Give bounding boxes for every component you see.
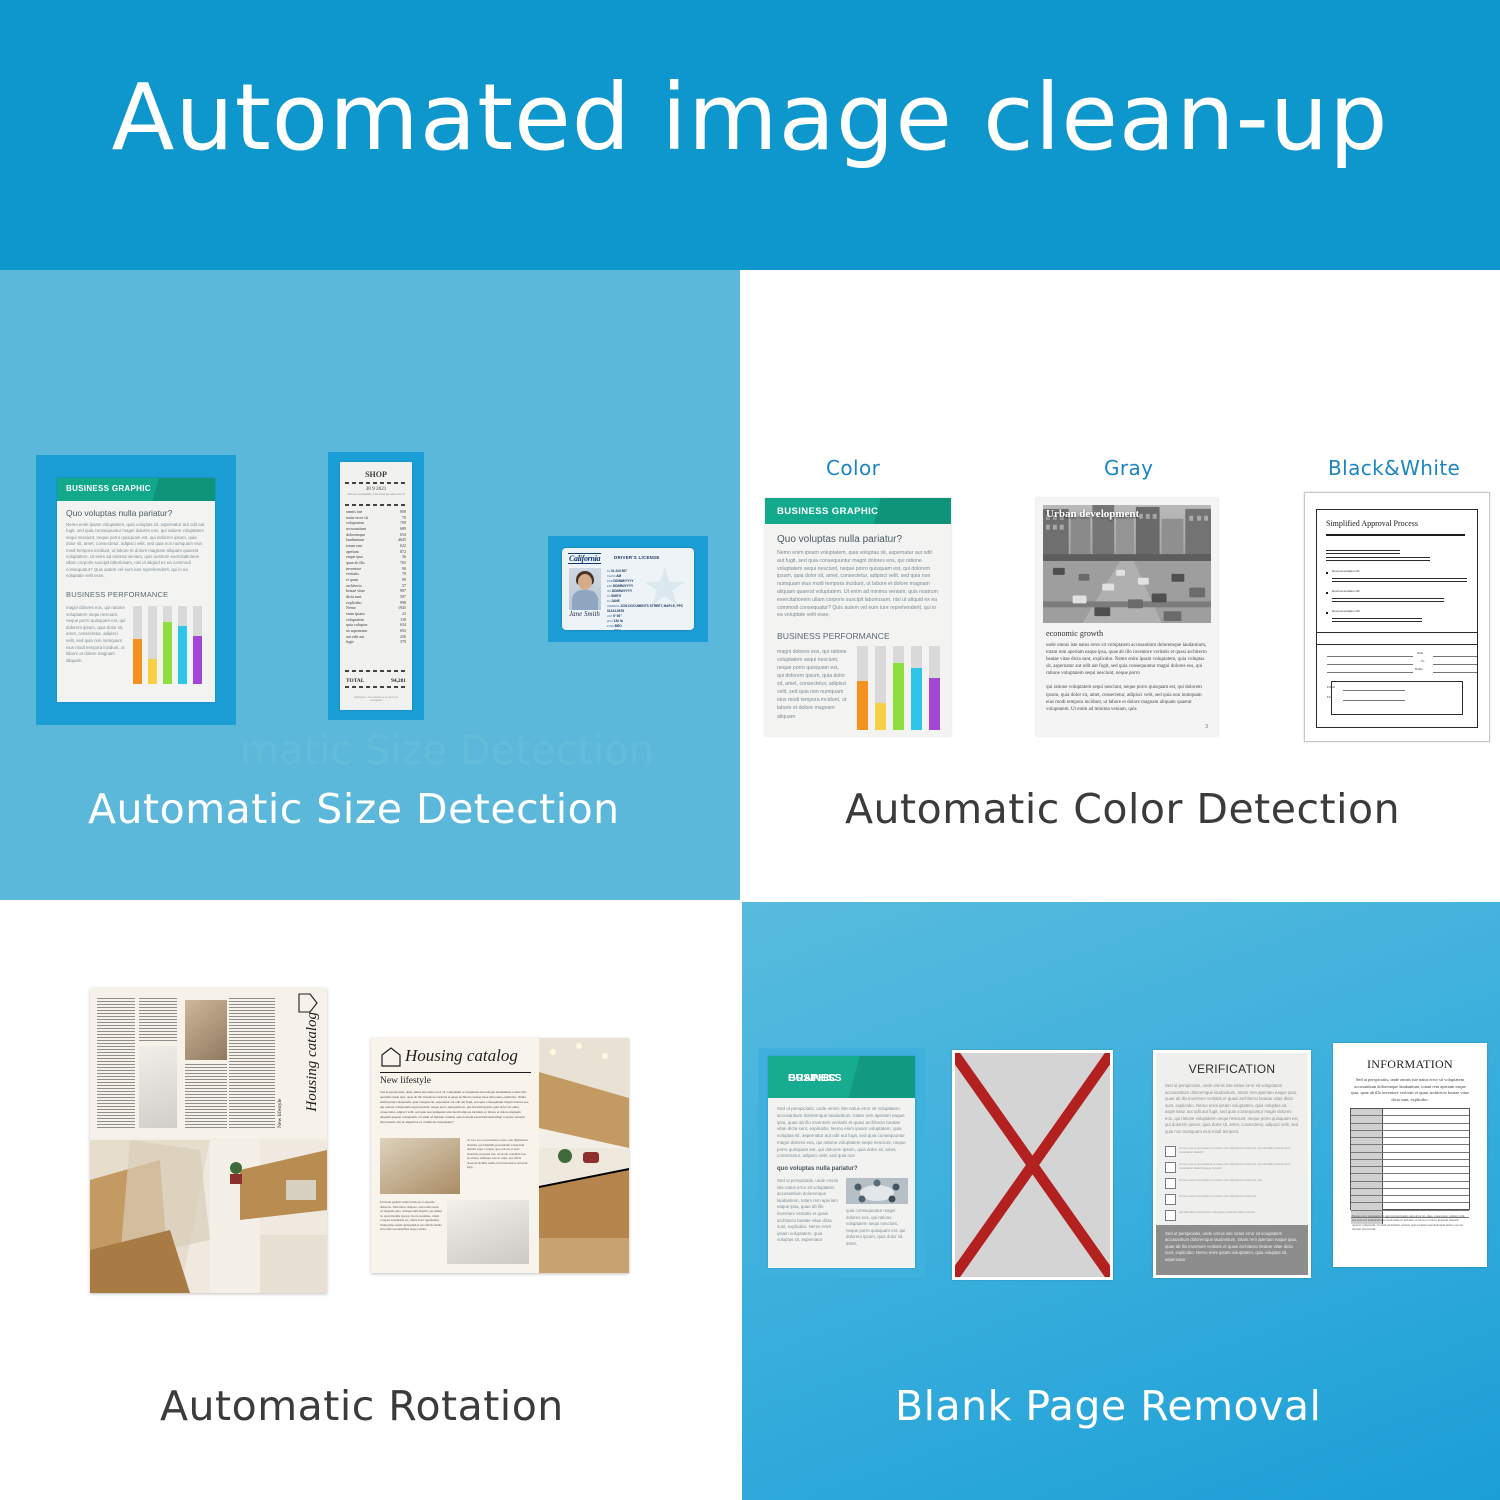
checkbox[interactable] [1165, 1162, 1176, 1173]
doc-header-band: BUSINESS GRAPHIC [765, 498, 951, 524]
gray-doc-body: unde omnis iste natus error sit voluptat… [1046, 642, 1208, 720]
doc-header-label: BUSINESS GRAPHIC [66, 484, 151, 493]
license-field-value: AM [616, 574, 621, 578]
doc-header-label: BUSINESS GRAPHIC [777, 506, 878, 517]
license-field-key: HGT [607, 615, 612, 618]
verification-check-row[interactable]: At vero eos et accusamus et iusto odio d… [1165, 1145, 1299, 1161]
receipt-divider-2 [345, 504, 407, 506]
doc-magazine-rotated[interactable]: Housing catalog New lifestyle [90, 988, 327, 1293]
license-field-key: CLASS [607, 575, 616, 578]
table-label-cell [1351, 1145, 1383, 1151]
bullet-icon [1326, 612, 1328, 614]
verification-check-row[interactable]: At vero eos et accusamus et iusto odio d… [1165, 1193, 1299, 1209]
information-body: Sed ut perspiciatis, unde omnis iste nat… [1350, 1077, 1470, 1103]
table-label-cell [1351, 1174, 1383, 1180]
doc-column-2: quia consequuntur magni dolores eos, qui… [846, 1208, 908, 1248]
bar-fill [148, 659, 157, 684]
bar-4 [911, 646, 922, 730]
license-field-key: EYES [607, 625, 614, 628]
table-label-cell [1351, 1131, 1383, 1137]
receipt-total-row: TOTAL 94,281 [346, 678, 406, 684]
doc-body-text: Nemo enim ipsam voluptatem, quia volupta… [66, 522, 206, 579]
interior-photo-rotated-1 [185, 1000, 227, 1060]
bar-fill [875, 703, 886, 730]
gray-doc-paragraph-2: qui ratione voluptatem sequi nesciunt, n… [1046, 684, 1208, 712]
bar-fill [178, 626, 187, 684]
doc-subheading: BUSINESS PERFORMANCE [777, 631, 890, 641]
doc-heading: Quo voluptas nulla pariatur? [777, 534, 902, 545]
bw-doc-title: Simplified Approval Process [1326, 519, 1418, 528]
receipt-divider-1 [345, 482, 407, 484]
doc-subheading: BUSINESS PERFORMANCE [66, 590, 168, 599]
bar-1 [857, 646, 868, 730]
table-row [1351, 1203, 1469, 1210]
city-street-illustration [1043, 505, 1211, 623]
label-automatic-size-detection: Automatic Size Detection [88, 785, 620, 833]
bar-fill [133, 639, 142, 684]
magazine-masthead-rotated: Housing catalog [287, 998, 321, 1138]
table-row [1351, 1109, 1469, 1116]
bw-field-label-date: Date [1417, 651, 1423, 655]
receipt-footer-note: laboriosam, nisi ut aliquid ex ea commod… [348, 696, 404, 702]
checkbox[interactable] [1165, 1146, 1176, 1157]
bar-3 [163, 606, 172, 684]
table-label-cell [1351, 1203, 1383, 1209]
gray-doc-heading: economic growth [1046, 629, 1103, 638]
license-portrait-photo [569, 568, 601, 610]
table-label-cell [1351, 1189, 1383, 1195]
license-field-value: JANE [611, 599, 620, 603]
doc-header-band: BUSINESS GRAPHIC [57, 478, 215, 501]
bathroom-photo [447, 1200, 529, 1264]
receipt-date: 30 9 2021 [340, 486, 412, 492]
doc-verification[interactable]: VERIFICATION Sed ut perspiciatis, unde o… [1153, 1050, 1311, 1278]
verification-footer-text: Sed ut perspiciatis, unde omnis iste nat… [1165, 1231, 1299, 1263]
bar-fill [911, 668, 922, 730]
doc-body-text: Sed ut perspiciatis, unde omnis iste nat… [777, 1106, 906, 1160]
gray-doc-page-number: 3 [1205, 724, 1208, 730]
bar-2 [148, 606, 157, 684]
bullet-icon [1326, 572, 1328, 574]
table-label-cell [1351, 1182, 1383, 1188]
license-field-list: DL 01 234 567CLASS AMDOB DD/MM/YYYYEXP D… [607, 569, 689, 630]
table-row [1351, 1153, 1469, 1160]
magazine-body-lines [229, 998, 275, 1130]
verification-check-label: At vero eos et accusamus et iusto odio d… [1179, 1178, 1299, 1182]
magazine-subheading-rotated: New lifestyle [277, 1000, 283, 1128]
bw-separator-band [1316, 632, 1478, 645]
poster-root: Automated image clean-up BUSINESS GRAPHI… [0, 0, 1500, 1500]
doc-black-and-white-version[interactable]: Simplified Approval Process Recommendati… [1304, 492, 1490, 742]
bw-recommendation: Recommendation #1 [1332, 569, 1360, 573]
receipt-total-value: 94,281 [391, 678, 406, 684]
verification-check-label: qui blanditiis praesentium voluptatum de… [1179, 1210, 1299, 1214]
table-label-cell [1351, 1116, 1383, 1122]
house-icon [297, 992, 319, 1014]
verification-check-label: At vero eos et accusamus et iusto odio d… [1179, 1146, 1299, 1154]
table-row [1351, 1174, 1469, 1181]
license-field-value: 01 234 567 [611, 569, 627, 573]
receipt-item: fugit379 [346, 639, 406, 645]
magazine-heading: New lifestyle [380, 1076, 431, 1086]
bathroom-photo-rotated [139, 1046, 177, 1128]
license-field-key: FN [607, 600, 610, 603]
table-row [1351, 1116, 1469, 1123]
living-room-photo [380, 1138, 460, 1194]
verification-check-row[interactable]: qui blanditiis praesentium voluptatum de… [1165, 1209, 1299, 1225]
doc-heading: Quo voluptas nulla pariatur? [66, 508, 172, 518]
caption-black-and-white: Black&White [1328, 456, 1460, 480]
checkbox[interactable] [1165, 1210, 1176, 1221]
caption-color: Color [826, 456, 880, 480]
table-row [1351, 1182, 1469, 1189]
license-field-value: DD/MM/YYYY [613, 579, 633, 583]
doc-blank-page[interactable] [952, 1050, 1113, 1280]
bw-field-label-to: To [1421, 659, 1424, 663]
table-label-cell [1351, 1196, 1383, 1202]
bar-5 [929, 646, 940, 730]
label-automatic-color-detection: Automatic Color Detection [845, 785, 1400, 833]
doc-business-graphic-small[interactable]: BUSINESS GRAPHIC Quo voluptas nulla pari… [57, 478, 215, 702]
license-field-key: DL [607, 570, 610, 573]
bar-2 [875, 646, 886, 730]
table-row [1351, 1189, 1469, 1196]
checkbox[interactable] [1165, 1194, 1176, 1205]
magazine-column-a: At vero eos et accusamus et iusto odio d… [467, 1138, 529, 1170]
interior-photo-main [539, 1038, 629, 1273]
meeting-photo [846, 1178, 908, 1204]
cross-out-icon [955, 1053, 1110, 1277]
verification-check-label: At vero eos et accusamus et iusto odio d… [1179, 1162, 1299, 1170]
doc-header-band: BUSINESSGRAPHIC [768, 1056, 915, 1098]
gray-doc-paragraph-1: unde omnis iste natus error sit voluptat… [1046, 642, 1208, 677]
license-field-key: DOB [607, 580, 613, 583]
bar-fill [929, 678, 940, 730]
size-detection-ghost-label: matic Size Detection [240, 728, 654, 774]
receipt-item-name: fugit [346, 639, 354, 645]
table-row [1351, 1145, 1469, 1152]
information-footer: Neque porro quisquam est, qui dolorem ip… [1352, 1214, 1468, 1231]
bw-recommendation: Recommendation #2 [1332, 589, 1360, 593]
label-blank-page-removal: Blank Page Removal [895, 1382, 1321, 1430]
verification-body: Sed ut perspiciatis, unde omnis iste nat… [1165, 1083, 1299, 1135]
information-table [1350, 1108, 1470, 1210]
doc-magazine-corrected[interactable]: Housing catalog New lifestyle Sed ut per… [371, 1038, 629, 1273]
license-field-value: BRN [614, 629, 621, 630]
table-row [1351, 1124, 1469, 1131]
bar-4 [178, 606, 187, 684]
table-label-cell [1351, 1109, 1383, 1115]
license-field-value: DD/MM/YYYY [612, 589, 632, 593]
caption-gray: Gray [1104, 456, 1153, 480]
interior-photo-rotated-main [90, 1140, 327, 1293]
checkbox[interactable] [1165, 1178, 1176, 1189]
doc-body-text: Nemo enim ipsam voluptatem, quia volupta… [777, 550, 939, 620]
bar-3 [893, 646, 904, 730]
header-banner: Automated image clean-up [0, 0, 1500, 270]
doc-side-column: magni dolores eos, qui ratione voluptate… [66, 605, 126, 664]
bar-fill [163, 622, 172, 684]
license-field-value: SMITH [611, 594, 621, 598]
bar-5 [193, 606, 202, 684]
license-field-value: 130 lb [614, 619, 623, 623]
magazine-body: Sed ut perspiciatis, unde omnis iste nat… [380, 1090, 531, 1125]
verification-footer-band: Sed ut perspiciatis, unde omnis iste nat… [1156, 1225, 1308, 1275]
bar-1 [133, 606, 142, 684]
license-field-key: EXP [607, 585, 612, 588]
table-label-cell [1351, 1167, 1383, 1173]
magazine-column-b: Et harum quidem rerum facilis est et exp… [380, 1200, 442, 1232]
table-label-cell [1351, 1160, 1383, 1166]
receipt-item-value: 379 [400, 639, 406, 645]
gray-doc-title: Urban development [1046, 508, 1139, 520]
page-title: Automated image clean-up [0, 72, 1500, 164]
table-row [1351, 1138, 1469, 1145]
receipt-divider-3 [345, 670, 407, 672]
bar-fill [193, 636, 202, 684]
magazine-body-lines [97, 998, 135, 1128]
bar-chart-small [133, 606, 205, 684]
magazine-body-lines [139, 998, 177, 1042]
verification-check-label: At vero eos et accusamus et iusto odio d… [1179, 1194, 1299, 1198]
license-field-key: WGT [607, 620, 613, 623]
magazine-body-lines [185, 1064, 227, 1128]
bar-fill [857, 681, 868, 730]
license-field-key: ADDRESS [607, 605, 620, 608]
bullet-icon [1326, 592, 1328, 594]
license-field-value: DD/MM/YYYY [613, 584, 633, 588]
verification-check-row[interactable]: At vero eos et accusamus et iusto odio d… [1165, 1161, 1299, 1177]
table-row [1351, 1131, 1469, 1138]
doc-subheading: quo voluptas nulla pariatur? [777, 1166, 858, 1172]
bw-field-label-name: Name [1415, 667, 1423, 671]
receipt-shop-name: SHOP [340, 470, 412, 479]
bw-title-underline [1326, 534, 1465, 536]
bar-fill [893, 663, 904, 730]
magazine-brand: Housing catalog [304, 1012, 321, 1112]
bw-recommendation: Recommendation #3 [1332, 609, 1360, 613]
receipt-subtitle: Odit sed ut perspiciatis, unde omnis ist… [346, 493, 406, 496]
table-row [1351, 1196, 1469, 1203]
doc-br-business-graphic[interactable]: BUSINESSGRAPHIC Sed ut perspiciatis, und… [768, 1056, 915, 1268]
cityscape-photo [1043, 505, 1211, 623]
label-automatic-rotation: Automatic Rotation [160, 1382, 564, 1430]
house-icon [380, 1046, 402, 1068]
license-state-label: California [568, 553, 601, 564]
doc-drivers-license[interactable]: ★ California DRIVER'S LICENSE Jane Smith… [562, 548, 694, 630]
table-label-cell [1351, 1138, 1383, 1144]
magazine-brand: Housing catalog [405, 1046, 518, 1066]
license-field-value: BRO [615, 624, 622, 628]
bar-chart-color [857, 646, 941, 730]
license-field-key: ISS [607, 590, 611, 593]
verification-title: VERIFICATION [1156, 1062, 1308, 1076]
license-signature: Jane Smith [569, 610, 600, 618]
receipt-total-label: TOTAL [346, 678, 364, 684]
bw-form-border: Simplified Approval Process Recommendati… [1316, 509, 1478, 728]
doc-column-1: Sed ut perspiciatis, unde omnis iste nat… [777, 1178, 839, 1244]
receipt-line-items: omnis iste800natus error sit70voluptatem… [346, 509, 406, 645]
doc-gray-version[interactable]: Urban development economic growth unde o… [1036, 498, 1218, 736]
license-field-value: 5' 06" [613, 614, 621, 618]
license-field-key: LN [607, 595, 610, 598]
doc-color-version[interactable]: BUSINESS GRAPHIC Quo voluptas nulla pari… [765, 498, 951, 736]
table-label-cell [1351, 1124, 1383, 1130]
table-row [1351, 1167, 1469, 1174]
license-field: HAIR BRN [607, 629, 689, 630]
license-field: ADDRESS 1234 DOCUMENTS STREET, MAPLE, PP… [607, 604, 689, 614]
table-row [1351, 1160, 1469, 1167]
bw-signature-box[interactable] [1331, 681, 1463, 715]
information-title: INFORMATION [1336, 1057, 1484, 1072]
license-title: DRIVER'S LICENSE [614, 555, 660, 560]
table-label-cell [1351, 1153, 1383, 1159]
verification-check-row[interactable]: At vero eos et accusamus et iusto odio d… [1165, 1177, 1299, 1193]
receipt-divider-4 [345, 686, 407, 688]
doc-side-column: magni dolores eos, qui ratione voluptate… [777, 648, 847, 721]
doc-information[interactable]: INFORMATION Sed ut perspiciatis, unde om… [1333, 1043, 1487, 1267]
doc-receipt[interactable]: SHOP 30 9 2021 Odit sed ut perspiciatis,… [340, 462, 412, 710]
